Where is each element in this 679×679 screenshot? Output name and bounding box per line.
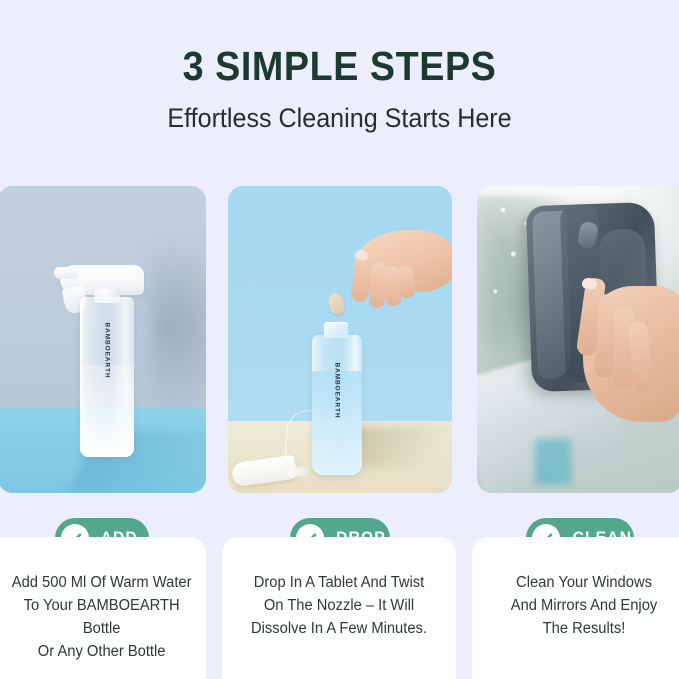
step-2-card: Drop In A Tablet And Twist On The Nozzle… xyxy=(222,537,456,679)
page-subtitle: Effortless Cleaning Starts Here xyxy=(24,90,655,134)
spray-bottle-scene: BAMBOEARTH xyxy=(0,186,206,493)
teal-reflection xyxy=(535,439,571,485)
page-title: 3 SIMPLE STEPS xyxy=(27,0,652,90)
photo-row: BAMBOEARTH BAMBOEARTH xyxy=(0,186,679,493)
bottle-brand-label: BAMBOEARTH xyxy=(334,363,341,419)
spray-bottle: BAMBOEARTH xyxy=(80,297,134,457)
tablet-drop-scene: BAMBOEARTH xyxy=(228,186,452,493)
step-3-description: Clean Your Windows And Mirrors And Enjoy… xyxy=(489,571,679,640)
hand-holding-tablet xyxy=(326,220,452,338)
header: 3 SIMPLE STEPS Effortless Cleaning Start… xyxy=(0,0,679,176)
step-3-photo xyxy=(477,186,679,493)
wall-shadow xyxy=(148,236,206,416)
window-cleaning-scene xyxy=(477,186,679,493)
bottle-brand-label: BAMBOEARTH xyxy=(104,323,111,379)
step-2-photo: BAMBOEARTH xyxy=(228,186,452,493)
hand-wiping xyxy=(565,252,679,442)
step-3-card: Clean Your Windows And Mirrors And Enjoy… xyxy=(472,537,679,679)
water-bottle: BAMBOEARTH xyxy=(312,335,362,475)
infographic-page: 3 SIMPLE STEPS Effortless Cleaning Start… xyxy=(0,0,679,679)
step-2-description: Drop In A Tablet And Twist On The Nozzle… xyxy=(237,571,440,640)
description-cards: Add 500 Ml Of Warm Water To Your BAMBOEA… xyxy=(0,537,679,679)
step-1-card: Add 500 Ml Of Warm Water To Your BAMBOEA… xyxy=(0,537,206,679)
step-1-photo: BAMBOEARTH xyxy=(0,186,206,493)
step-1-description: Add 500 Ml Of Warm Water To Your BAMBOEA… xyxy=(0,571,197,663)
